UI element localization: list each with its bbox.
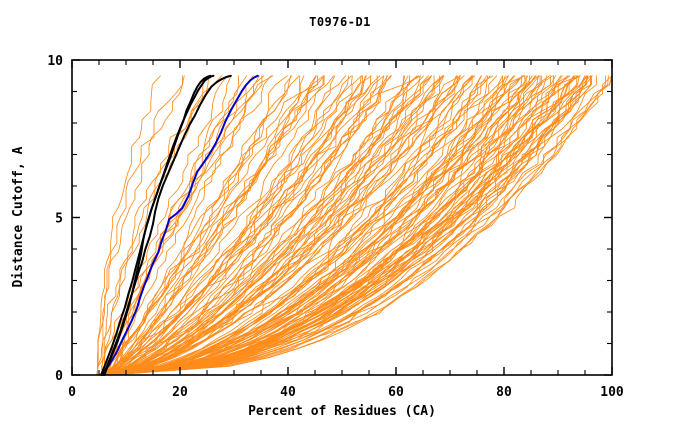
x-tick-label: 80 xyxy=(496,385,512,400)
distance-cutoff-plot: 0204060801000510 Percent of Residues (CA… xyxy=(0,0,680,440)
x-axis-title: Percent of Residues (CA) xyxy=(248,404,436,419)
background-curve xyxy=(113,76,505,375)
y-tick-label: 10 xyxy=(47,54,63,69)
x-tick-label: 100 xyxy=(600,385,624,400)
x-tick-label: 40 xyxy=(280,385,296,400)
x-tick-label: 0 xyxy=(68,385,76,400)
background-curve xyxy=(109,76,324,375)
chart-canvas: T0976-D1 0204060801000510 Percent of Res… xyxy=(0,0,680,440)
x-tick-label: 20 xyxy=(172,385,188,400)
x-tick-label: 60 xyxy=(388,385,404,400)
y-axis-title: Distance Cutoff, A xyxy=(11,146,26,287)
y-tick-label: 0 xyxy=(55,369,63,384)
background-curve xyxy=(104,76,352,375)
y-tick-label: 5 xyxy=(55,212,63,227)
series-layer xyxy=(97,76,612,375)
